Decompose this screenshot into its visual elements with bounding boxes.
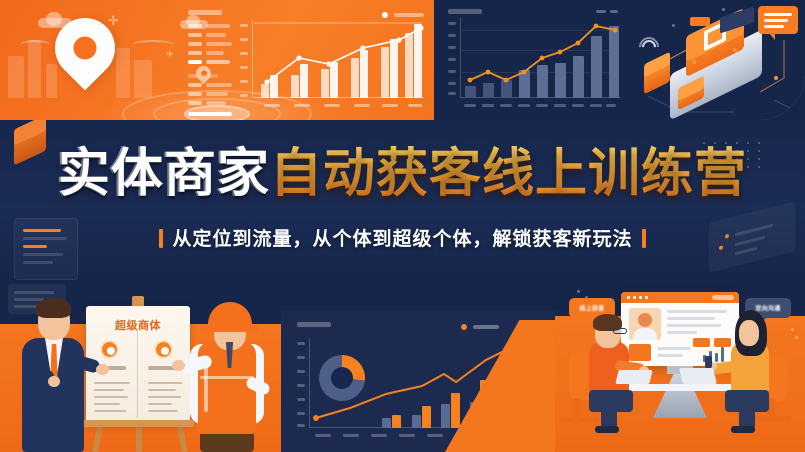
phone-icon <box>705 356 712 368</box>
subtitle-bar-right <box>642 229 646 248</box>
subtitle-bar-left <box>159 229 163 248</box>
title-white-part: 实体商家 <box>58 144 270 204</box>
top-right-isometric-scene <box>634 0 805 120</box>
user-avatar-icon <box>629 308 661 340</box>
legend-marker <box>382 12 388 18</box>
heart-badge-icon <box>154 340 173 359</box>
easel-tray <box>82 420 194 427</box>
monitor-icon <box>621 292 739 366</box>
sparkle-icon: ✛ <box>108 14 119 27</box>
hair <box>36 298 71 318</box>
title-block: 实体商家自动获客线上训练营 从定位到流量，从个体到超级个体，解锁获客新玩法 <box>0 120 805 280</box>
glasses-icon <box>613 328 627 334</box>
page-title: 实体商家自动获客线上训练营 <box>0 148 805 200</box>
page-subtitle: 从定位到流量，从个体到超级个体，解锁获客新玩法 <box>0 224 805 251</box>
top-orange-chart <box>176 0 434 120</box>
title-gold-part: 自动获客线上训练营 <box>270 144 747 204</box>
pointing-hand <box>172 360 185 371</box>
hard-hat-brim <box>200 325 258 332</box>
chart-title-placeholder <box>188 10 222 15</box>
building-icon <box>116 48 130 98</box>
chart-title-placeholder <box>297 322 331 327</box>
bottom-right-office-scene: 线上获客 双向沟通 <box>555 280 805 452</box>
trend-line <box>461 18 621 98</box>
laptop-icon <box>615 370 652 384</box>
top-banner-strip: ✛ ✛ <box>0 0 805 120</box>
bottom-left-presenters-scene: 超级商体 <box>0 280 281 452</box>
chip-tag <box>690 17 710 26</box>
building-icon <box>8 56 24 98</box>
legend-marker <box>461 324 467 330</box>
trend-line <box>253 20 425 98</box>
bottom-scenes: 超级商体 <box>0 280 805 452</box>
check-badge-icon <box>100 340 119 359</box>
building-icon <box>46 64 57 98</box>
poster-root: ✛ ✛ <box>0 0 805 452</box>
chart-title-placeholder <box>448 9 482 14</box>
board-title: 超级商体 <box>86 317 190 333</box>
bubble-left-text: 线上获客 <box>569 304 615 313</box>
hand <box>48 376 60 387</box>
laptop-icon <box>679 368 717 384</box>
pointing-hand <box>96 364 109 375</box>
avatar-face <box>739 320 759 346</box>
top-dark-chart <box>434 0 634 120</box>
bottom-center-chart-scene <box>281 280 555 452</box>
legend-label-placeholder <box>394 13 424 17</box>
legend-label-placeholder <box>473 325 499 329</box>
subtitle-text: 从定位到流量，从个体到超级个体，解锁获客新玩法 <box>172 228 632 250</box>
chat-bubble-icon <box>758 6 798 34</box>
thumbnail-block <box>629 344 651 361</box>
sparkle-icon: ✛ <box>166 50 174 59</box>
